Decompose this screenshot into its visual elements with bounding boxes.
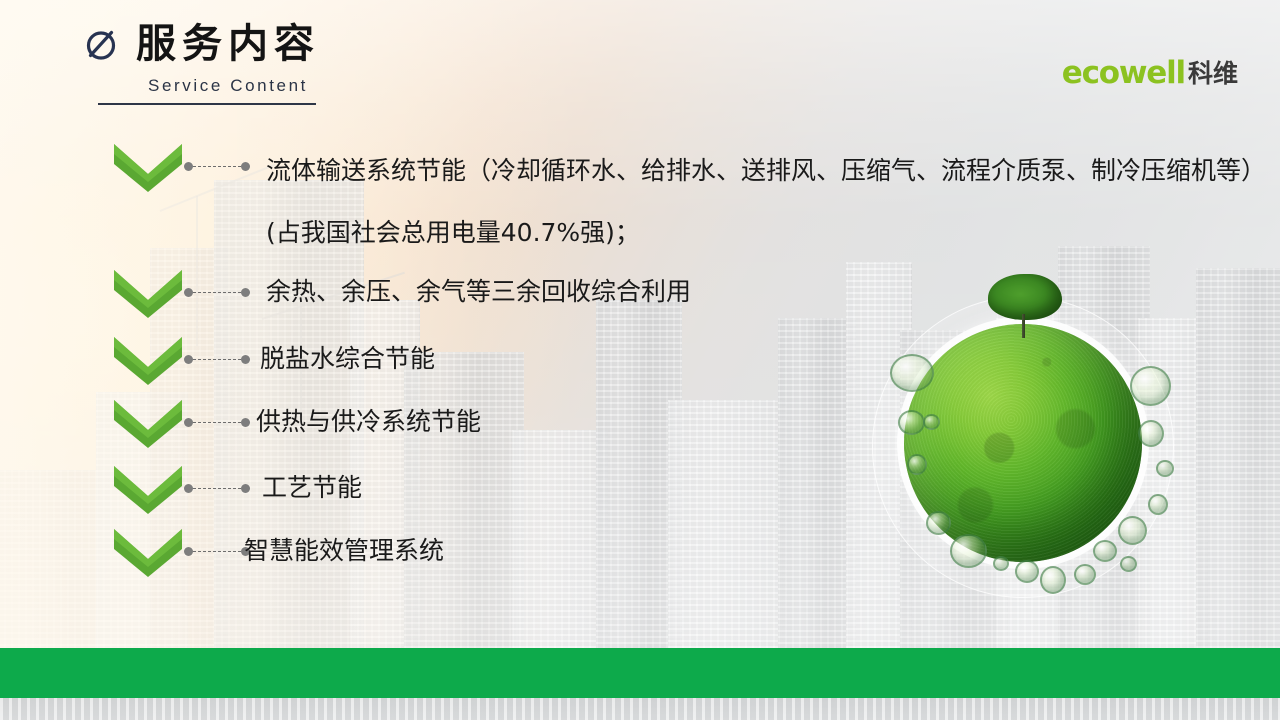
chevron-down-icon [112,462,184,514]
list-item: 脱盐水综合节能 [112,333,435,385]
connector-dot [241,418,250,427]
connector-dash [193,292,241,293]
connector-dot [184,288,193,297]
connector-dot [241,484,250,493]
chevron-down-icon [112,525,184,577]
water-bubble [898,410,925,435]
connector-dot [241,162,250,171]
connector-dot [184,484,193,493]
bullet-connector [184,333,250,385]
connector-dash [193,422,241,423]
chevron-down-icon [112,140,184,192]
list-item: 余热、余压、余气等三余回收综合利用 [112,266,691,318]
connector-dot [184,418,193,427]
connector-dash [193,551,241,552]
connector-dot [184,547,193,556]
connector-dash [193,488,241,489]
presentation-slide: 服务内容 Service Content ecowell 科维 流体输送系统节能… [0,0,1280,720]
connector-dot [184,355,193,364]
bullet-connector [184,525,250,577]
water-bubble [1130,366,1171,406]
list-item-label: 工艺节能 [262,462,362,514]
tree-crown [988,274,1062,320]
bullet-connector [184,266,250,318]
water-bubble [1074,564,1096,585]
water-bubble [1040,566,1066,594]
connector-dot [184,162,193,171]
connector-dash [193,166,241,167]
tree-trunk [1022,314,1025,338]
water-bubble [890,354,934,392]
water-bubble [923,414,940,430]
water-bubble [1138,420,1164,447]
list-item-label: 脱盐水综合节能 [260,333,435,385]
list-item-label: 流体输送系统节能（冷却循环水、给排水、送排风、压缩气、流程介质泵、制冷压缩机等）… [266,140,1276,264]
list-item: 流体输送系统节能（冷却循环水、给排水、送排风、压缩气、流程介质泵、制冷压缩机等）… [112,140,1276,264]
list-item: 供热与供冷系统节能 [112,396,481,448]
water-bubble [950,534,987,568]
water-bubble [907,454,927,475]
connector-dot [241,288,250,297]
bottom-green-bar [0,648,1280,698]
bullet-connector [184,140,250,192]
green-earth-graphic [860,268,1190,628]
bottom-strip [0,698,1280,720]
list-item-label: 余热、余压、余气等三余回收综合利用 [266,266,691,318]
water-bubble [1118,516,1147,545]
water-bubble [1156,460,1174,477]
water-bubble [1093,540,1117,562]
chevron-down-icon [112,266,184,318]
tree-on-globe [988,274,1062,336]
chevron-down-icon [112,396,184,448]
water-bubble [926,511,951,535]
water-bubble [1015,560,1039,583]
connector-dash [193,359,241,360]
list-item-label: 供热与供冷系统节能 [256,396,481,448]
bullet-connector [184,462,250,514]
water-bubble [1120,556,1137,572]
water-bubble [993,556,1009,571]
water-bubble [1148,494,1168,515]
chevron-down-icon [112,333,184,385]
list-item: 智慧能效管理系统 [112,525,444,577]
list-item-label: 智慧能效管理系统 [244,525,444,577]
connector-dot [241,355,250,364]
bullet-connector [184,396,250,448]
list-item: 工艺节能 [112,462,362,514]
